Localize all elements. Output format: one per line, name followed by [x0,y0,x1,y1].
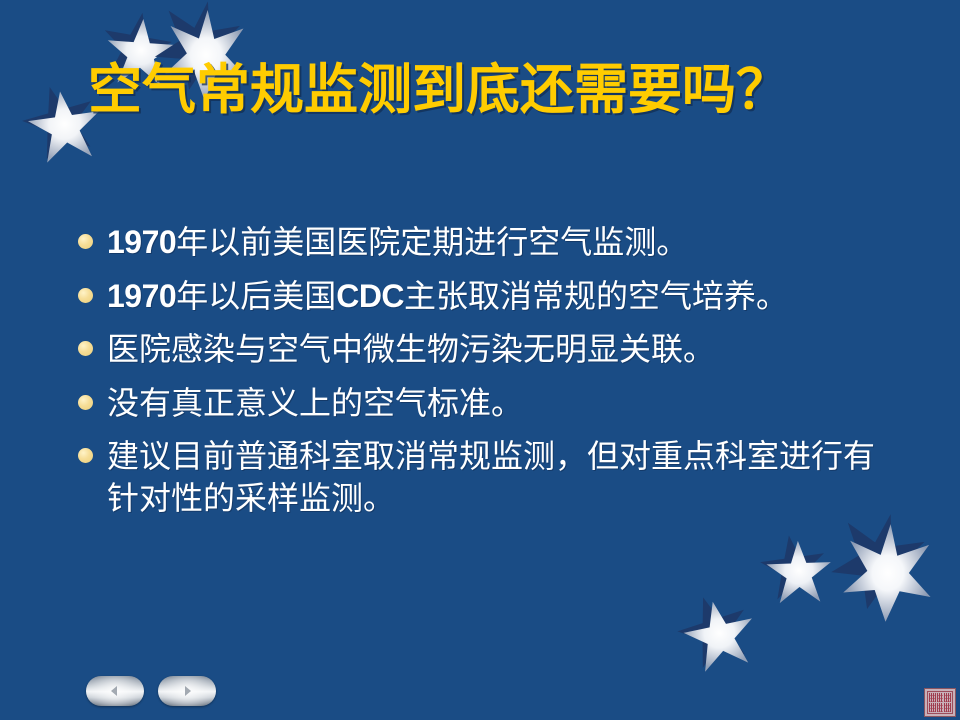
bullet-dot-icon [78,288,93,303]
list-item: 没有真正意义上的空气标准。 [78,383,888,425]
star-icon [836,522,940,626]
star-icon [764,538,834,608]
chevron-left-icon [108,684,122,698]
list-item-text: 医院感染与空气中微生物污染无明显关联。 [107,329,888,371]
next-slide-button[interactable] [158,676,216,706]
presentation-slide: 空气常规监测到底还需要吗？ 1970年以前美国医院定期进行空气监测。 1970年… [0,0,960,720]
seal-cell [944,703,951,712]
previous-slide-button[interactable] [86,676,144,706]
bullet-list: 1970年以前美国医院定期进行空气监测。 1970年以后美国CDC主张取消常规的… [78,222,888,532]
list-item: 医院感染与空气中微生物污染无明显关联。 [78,329,888,371]
star-decoration-bottom-right [660,520,960,720]
seal-cell [937,703,944,712]
list-item: 建议目前普通科室取消常规监测，但对重点科室进行有针对性的采样监测。 [78,436,888,519]
slide-navigation [86,676,216,706]
seal-cell [944,693,951,702]
star-icon [682,598,758,674]
bullet-dot-icon [78,448,93,463]
seal-grid [927,691,953,714]
bullet-dot-icon [78,395,93,410]
list-item-text: 1970年以后美国CDC主张取消常规的空气培养。 [107,276,888,318]
list-item: 1970年以后美国CDC主张取消常规的空气培养。 [78,276,888,318]
bullet-dot-icon [78,341,93,356]
red-seal-stamp-icon [924,688,956,717]
list-item-text: 建议目前普通科室取消常规监测，但对重点科室进行有针对性的采样监测。 [107,436,888,519]
seal-cell [929,693,936,702]
seal-cell [929,703,936,712]
bullet-dot-icon [78,234,93,249]
list-item-text: 没有真正意义上的空气标准。 [107,383,888,425]
slide-title: 空气常规监测到底还需要吗？ [88,62,888,119]
list-item: 1970年以前美国医院定期进行空气监测。 [78,222,888,264]
seal-cell [937,693,944,702]
chevron-right-icon [180,684,194,698]
list-item-text: 1970年以前美国医院定期进行空气监测。 [107,222,888,264]
